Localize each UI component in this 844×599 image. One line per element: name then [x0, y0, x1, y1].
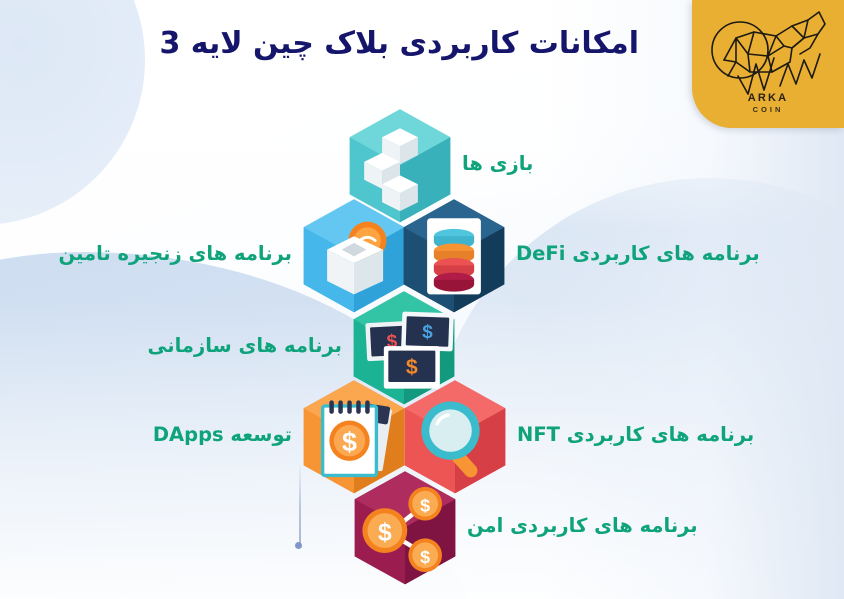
hex-label-enterprise: برنامه های سازمانی [148, 336, 342, 356]
logo-panel[interactable]: ARKA COIN [692, 0, 844, 128]
hex-node-secure[interactable]: $ $ $ برنامه های کاربردی امن [349, 469, 461, 587]
logo-name: ARKA [692, 92, 844, 104]
hex-label-dapps: توسعه DApps [153, 425, 292, 445]
hex-label-games: بازی ها [462, 154, 533, 174]
hex-label-supply-chain: برنامه های زنجیره تامین [58, 244, 292, 264]
logo-subtitle: COIN [692, 105, 844, 114]
svg-text:$: $ [420, 496, 430, 516]
connector-dot [295, 542, 302, 549]
infographic-canvas: ARKA COIN امکانات کاربردی بلاک چین لایه … [0, 0, 844, 599]
svg-text:$: $ [406, 355, 418, 379]
hex-label-defi: برنامه های کاربردی DeFi [516, 244, 760, 264]
page-title: امکانات کاربردی بلاک چین لایه 3 [159, 26, 639, 61]
hex-label-secure: برنامه های کاربردی امن [467, 516, 698, 536]
hex-label-nft: برنامه های کاربردی NFT [517, 425, 754, 445]
svg-text:$: $ [422, 322, 434, 343]
svg-text:$: $ [342, 427, 357, 457]
bull-geometric-icon [692, 2, 844, 98]
hex-shape-secure: $ $ $ [349, 469, 461, 587]
svg-text:$: $ [378, 520, 392, 547]
svg-text:$: $ [420, 547, 430, 567]
